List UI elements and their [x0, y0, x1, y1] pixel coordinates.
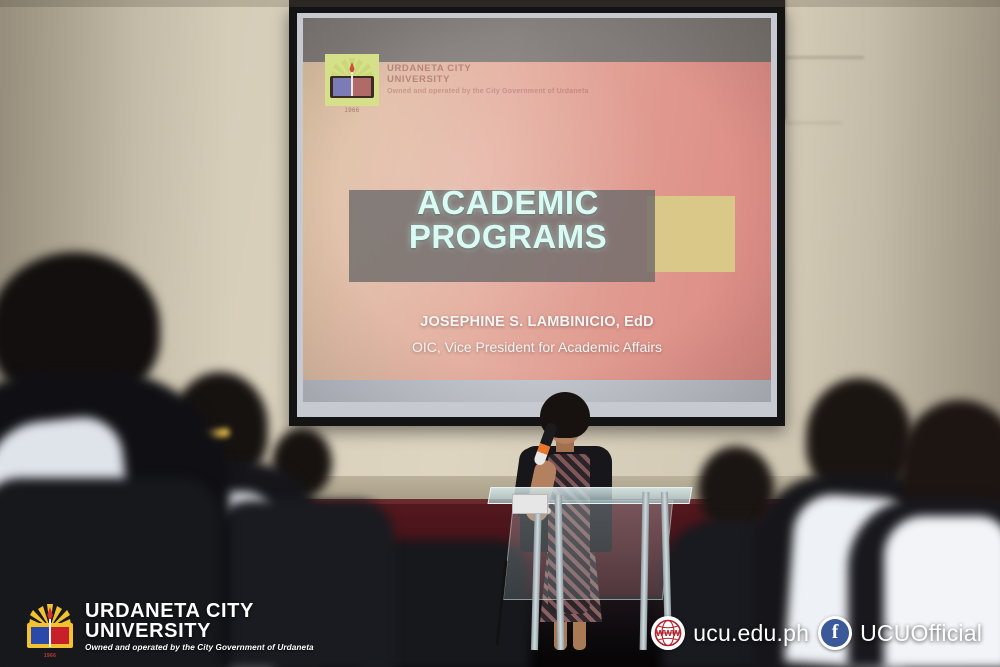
watermark-name-line1: URDANETA CITY: [85, 601, 314, 621]
slide-org-tagline: Owned and operated by the City Governmen…: [387, 88, 589, 96]
watermark-logo: 1966 URDANETA CITY UNIVERSITY Owned and …: [24, 601, 314, 652]
facebook-icon: f: [818, 616, 852, 650]
presentation-photo: 1966 URDANETA CITY UNIVERSITY Owned and …: [0, 0, 1000, 667]
website-label: ucu.edu.ph: [693, 620, 809, 647]
torch-icon: [349, 62, 355, 96]
projection-screen-surface: 1966 URDANETA CITY UNIVERSITY Owned and …: [297, 13, 777, 417]
watermark-text: URDANETA CITY UNIVERSITY Owned and opera…: [85, 601, 314, 652]
presentation-slide: 1966 URDANETA CITY UNIVERSITY Owned and …: [303, 18, 771, 402]
torch-icon: [47, 607, 53, 647]
book-page-right: [353, 78, 371, 96]
slide-title-line1: ACADEMIC: [343, 186, 673, 220]
slide-title-line2: PROGRAMS: [343, 220, 673, 254]
social-handles: WWW ucu.edu.ph f UCUOfficial: [651, 616, 982, 650]
logo-year: 1966: [325, 108, 379, 114]
slide-header: 1966 URDANETA CITY UNIVERSITY Owned and …: [325, 54, 589, 106]
ucu-watermark-icon: 1966: [24, 602, 76, 652]
facebook-f-glyph: f: [818, 616, 852, 650]
watermark-name-line2: UNIVERSITY: [85, 621, 314, 641]
svg-text:WWW: WWW: [656, 628, 681, 638]
slide-org-name-line2: UNIVERSITY: [387, 75, 589, 86]
globe-glyph: WWW: [654, 619, 682, 647]
website-handle: WWW ucu.edu.ph: [651, 616, 809, 650]
projection-screen-frame: 1966 URDANETA CITY UNIVERSITY Owned and …: [289, 6, 785, 426]
slide-speaker-name: JOSEPHINE S. LAMBINICIO, EdD: [303, 314, 771, 330]
book-page-right: [51, 627, 69, 644]
watermark-tagline: Owned and operated by the City Governmen…: [85, 644, 314, 652]
podium-device: [512, 494, 548, 514]
slide-title: ACADEMIC PROGRAMS: [343, 186, 673, 255]
facebook-label: UCUOfficial: [860, 620, 982, 647]
watermark-logo-year: 1966: [24, 653, 76, 659]
ucu-logo-icon: 1966: [325, 54, 379, 106]
slide-org-block: URDANETA CITY UNIVERSITY Owned and opera…: [387, 64, 589, 95]
facebook-handle: f UCUOfficial: [818, 616, 982, 650]
globe-icon: WWW: [651, 616, 685, 650]
slide-speaker-role: OIC, Vice President for Academic Affairs: [303, 339, 771, 355]
